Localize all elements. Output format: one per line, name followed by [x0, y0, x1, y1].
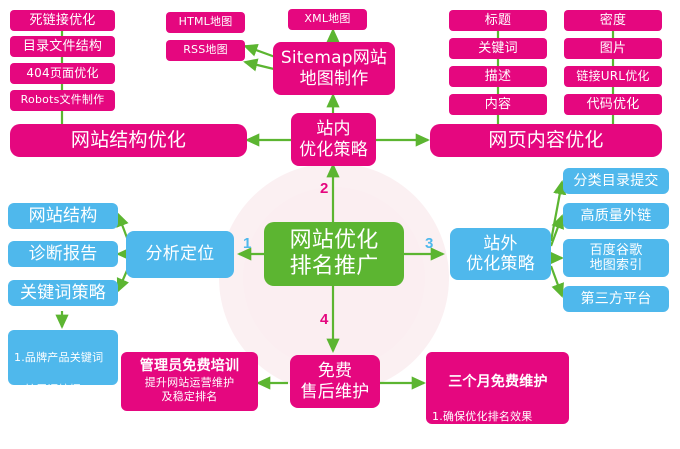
admin-training-sub1: 提升网站运营维护	[145, 376, 235, 390]
node-page-content-optimization[interactable]: 网页内容优化	[430, 124, 662, 157]
node-html-sitemap[interactable]: HTML地图	[166, 12, 245, 33]
node-diagnostic-report[interactable]: 诊断报告	[8, 241, 118, 267]
onsite-strategy-line1: 站内	[316, 119, 350, 139]
node-third-party-platform[interactable]: 第三方平台	[563, 286, 669, 312]
keyword-detail-line-3: 3.长尾词挖掘	[14, 414, 113, 430]
node-content-density[interactable]: 密度	[564, 10, 662, 31]
offsite-strategy-line2: 优化策略	[466, 254, 535, 274]
node-analysis-positioning-hub[interactable]: 分析定位	[126, 231, 234, 278]
diagram-canvas: 死链接优化 目录文件结构 404页面优化 Robots文件制作 网站结构优化 H…	[0, 0, 680, 449]
admin-training-title: 管理员免费培训	[140, 358, 239, 375]
node-dead-link-optimization[interactable]: 死链接优化	[10, 10, 115, 31]
offsite-strategy-line1: 站外	[483, 234, 517, 254]
node-keyword-strategy[interactable]: 关键词策略	[8, 280, 118, 306]
aftersales-line2: 售后维护	[301, 382, 370, 402]
node-directory-file-structure[interactable]: 目录文件结构	[10, 36, 115, 57]
node-content-url-optimization[interactable]: 链接URL优化	[564, 66, 662, 87]
node-content-keywords[interactable]: 关键词	[449, 38, 547, 59]
node-offsite-strategy-hub[interactable]: 站外 优化策略	[450, 228, 551, 280]
branch-number-4: 4	[320, 311, 328, 328]
node-center-seo-promotion[interactable]: 网站优化 排名推广	[264, 222, 404, 286]
sitemap-creation-line1: Sitemap网站	[281, 48, 387, 68]
node-content-code-optimization[interactable]: 代码优化	[564, 94, 662, 115]
maintenance-line-1: 1.确保优化排名效果	[432, 409, 564, 425]
node-404-page-optimization[interactable]: 404页面优化	[10, 63, 115, 84]
keyword-detail-line-1: 1.品牌产品关键词	[14, 350, 113, 366]
admin-training-sub2: 及稳定排名	[162, 390, 218, 404]
node-xml-sitemap[interactable]: XML地图	[288, 9, 367, 30]
node-sitemap-creation[interactable]: Sitemap网站 地图制作	[273, 42, 395, 95]
node-keyword-detail-list[interactable]: 1.品牌产品关键词 2.扩展词挖掘 3.长尾词挖掘	[8, 330, 118, 385]
node-content-description[interactable]: 描述	[449, 66, 547, 87]
node-directory-submission[interactable]: 分类目录提交	[563, 168, 669, 194]
node-high-quality-backlinks[interactable]: 高质量外链	[563, 203, 669, 229]
node-rss-sitemap[interactable]: RSS地图	[166, 40, 245, 61]
maintenance-title: 三个月免费维护	[432, 372, 564, 392]
sitemap-creation-line2: 地图制作	[300, 69, 369, 89]
node-robots-file-creation[interactable]: Robots文件制作	[10, 90, 115, 111]
branch-number-2: 2	[320, 180, 328, 197]
keyword-detail-line-2: 2.扩展词挖掘	[14, 382, 113, 398]
node-content-body[interactable]: 内容	[449, 94, 547, 115]
node-onsite-strategy-hub[interactable]: 站内 优化策略	[291, 113, 376, 166]
node-baidu-google-map-index[interactable]: 百度谷歌 地图索引	[563, 239, 669, 277]
onsite-strategy-line2: 优化策略	[299, 140, 368, 160]
node-content-images[interactable]: 图片	[564, 38, 662, 59]
node-three-month-maintenance[interactable]: 三个月免费维护 1.确保优化排名效果 2.每月出数据分析报 告 监测报告	[426, 352, 569, 424]
node-website-structure[interactable]: 网站结构	[8, 203, 118, 229]
branch-number-3: 3	[425, 235, 433, 252]
aftersales-line1: 免费	[318, 361, 352, 381]
node-admin-free-training[interactable]: 管理员免费培训 提升网站运营维护 及稳定排名	[121, 352, 258, 411]
node-site-structure-optimization[interactable]: 网站结构优化	[10, 124, 247, 157]
center-line2: 排名推广	[290, 254, 379, 280]
center-line1: 网站优化	[290, 228, 379, 254]
node-free-aftersales-hub[interactable]: 免费 售后维护	[290, 355, 380, 408]
branch-number-1: 1	[243, 235, 251, 252]
node-content-title[interactable]: 标题	[449, 10, 547, 31]
maintenance-line-2: 2.每月出数据分析报	[432, 441, 564, 449]
